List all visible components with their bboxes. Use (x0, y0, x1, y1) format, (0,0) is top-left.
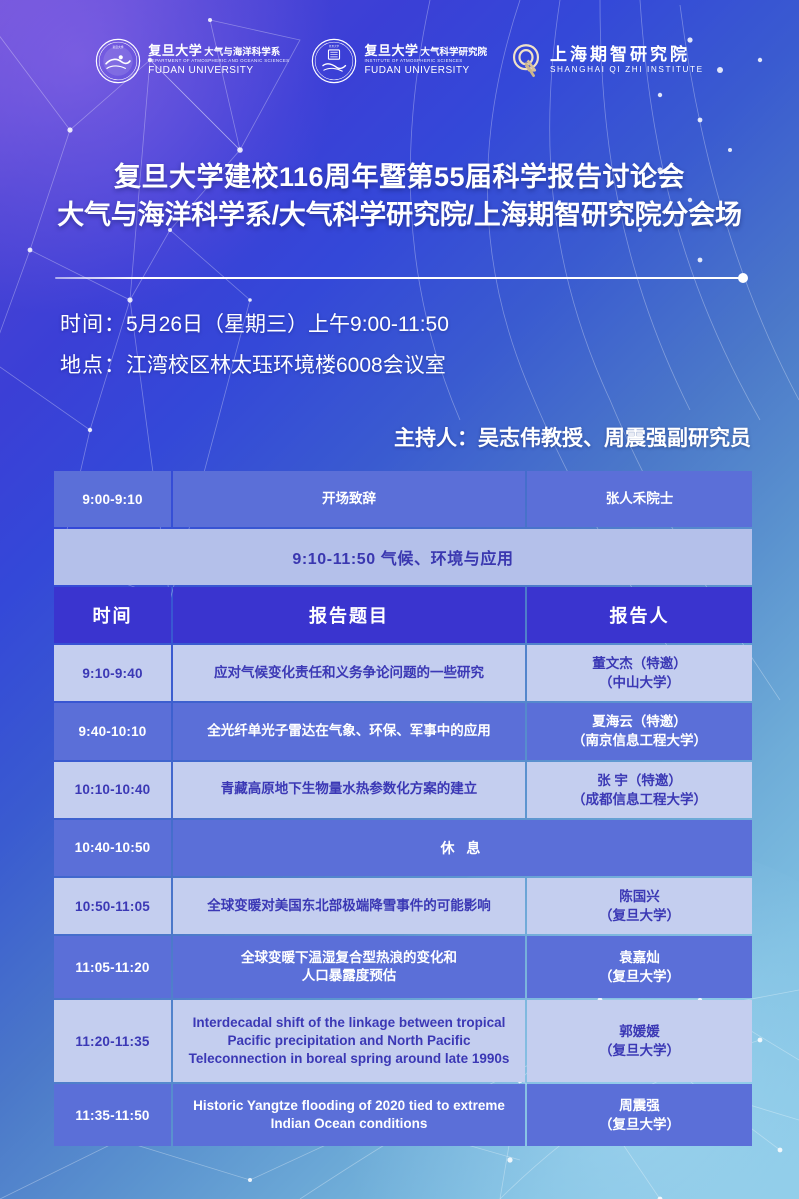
row-title: 全球变暖对美国东北部极端降雪事件的可能影响 (173, 878, 525, 934)
qizhi-monogram-icon (509, 42, 543, 80)
row-speaker-name: 郭媛媛 (533, 1022, 746, 1041)
row-speaker-name: 袁嘉灿 (533, 948, 746, 967)
opening-time: 9:00-9:10 (54, 471, 171, 527)
schedule-table: 9:00-9:10 开场致辞 张人禾院士 9:10-11:50 气候、环境与应用… (52, 469, 754, 1148)
row-speaker-name: 周震强 (533, 1096, 746, 1115)
event-place-label: 地点： (60, 354, 126, 377)
row-speaker: 陈国兴 （复旦大学） (527, 878, 752, 934)
row-speaker-name: 陈国兴 (533, 887, 746, 906)
column-header-title: 报告题目 (173, 587, 525, 643)
title-divider (0, 272, 799, 284)
fudan-ias-seal-text: 复旦大学 (364, 45, 418, 58)
table-row: 11:35-11:50 Historic Yangtze flooding of… (54, 1084, 752, 1146)
title-line-2: 大气与海洋科学系/大气科学研究院/上海期智研究院分会场 (0, 196, 799, 234)
table-row-section-header: 9:10-11:50 气候、环境与应用 (54, 529, 752, 585)
event-place-value: 江湾校区林太珏环境楼6008会议室 (126, 354, 446, 377)
row-speaker: 夏海云（特邀） （南京信息工程大学） (527, 703, 752, 759)
divider-end-dot-icon (738, 273, 748, 283)
page-title: 复旦大学建校116周年暨第55届科学报告讨论会 大气与海洋科学系/大气科学研究院… (0, 158, 799, 235)
row-time: 9:40-10:10 (54, 703, 171, 759)
row-time: 10:50-11:05 (54, 878, 171, 934)
row-speaker-affiliation: （南京信息工程大学） (533, 731, 746, 750)
section-header-label: 9:10-11:50 气候、环境与应用 (54, 529, 752, 585)
opening-title: 开场致辞 (173, 471, 525, 527)
qizhi-name-cn: 上海期智研究院 (550, 46, 704, 65)
row-title: Interdecadal shift of the linkage betwee… (173, 1000, 525, 1082)
break-label: 休 息 (173, 820, 752, 876)
table-row-column-headers: 时间 报告题目 报告人 (54, 587, 752, 643)
poster-canvas: 复旦大学 复旦大学 大气与海洋科学系 DEPARTMENT OF ATMOSPH… (0, 0, 799, 1199)
row-speaker-affiliation: （中山大学） (533, 673, 746, 692)
fudan-ams-university-en: FUDAN UNIVERSITY (148, 65, 289, 78)
row-speaker: 袁嘉灿 （复旦大学） (527, 936, 752, 998)
table-row: 9:40-10:10 全光纤单光子雷达在气象、环保、军事中的应用 夏海云（特邀）… (54, 703, 752, 759)
table-row: 11:20-11:35 Interdecadal shift of the li… (54, 1000, 752, 1082)
event-time-value: 5月26日（星期三）上午9:00-11:50 (126, 313, 449, 336)
fudan-ams-seal-text: 复旦大学 (148, 45, 202, 58)
shanghai-qizhi-logo: 上海期智研究院 SHANGHAI QI ZHI INSTITUTE (509, 42, 704, 80)
fudan-ams-dept-en: DEPARTMENT OF ATMOSPHERIC AND OCEANIC SC… (148, 58, 289, 65)
row-speaker-affiliation: （成都信息工程大学） (533, 790, 746, 809)
row-speaker-affiliation: （复旦大学） (533, 906, 746, 925)
table-row: 10:10-10:40 青藏高原地下生物量水热参数化方案的建立 张 宇（特邀） … (54, 762, 752, 818)
row-time: 11:05-11:20 (54, 936, 171, 998)
opening-speaker: 张人禾院士 (527, 471, 752, 527)
row-time: 11:35-11:50 (54, 1084, 171, 1146)
title-line-1: 复旦大学建校116周年暨第55届科学报告讨论会 (0, 158, 799, 196)
qizhi-name-en: SHANGHAI QI ZHI INSTITUTE (550, 65, 704, 76)
column-header-speaker: 报告人 (527, 587, 752, 643)
event-place-row: 地点：江湾校区林太珏环境楼6008会议室 (60, 346, 449, 387)
fudan-ias-university-en: FUDAN UNIVERSITY (364, 65, 487, 78)
fudan-ias-dept-cn: 大气科学研究院 (420, 48, 487, 58)
table-row: 10:50-11:05 全球变暖对美国东北部极端降雪事件的可能影响 陈国兴 （复… (54, 878, 752, 934)
table-row-break: 10:40-10:50 休 息 (54, 820, 752, 876)
fudan-seal-icon: 复旦大学 (95, 38, 141, 84)
fudan-ams-dept-cn: 大气与海洋科学系 (204, 48, 280, 58)
row-speaker: 郭媛媛 （复旦大学） (527, 1000, 752, 1082)
row-speaker-name: 董文杰（特邀） (533, 654, 746, 673)
row-time: 10:10-10:40 (54, 762, 171, 818)
svg-text:复旦大学: 复旦大学 (329, 44, 340, 48)
divider-line (55, 277, 743, 279)
row-speaker: 董文杰（特邀） （中山大学） (527, 645, 752, 701)
row-time: 9:10-9:40 (54, 645, 171, 701)
fudan-ias-dept-en: INSTITUTE OF ATMOSPHERIC SCIENCES (364, 58, 487, 65)
row-title: Historic Yangtze flooding of 2020 tied t… (173, 1084, 525, 1146)
event-meta: 时间：5月26日（星期三）上午9:00-11:50 地点：江湾校区林太珏环境楼6… (60, 305, 449, 387)
row-speaker: 张 宇（特邀） （成都信息工程大学） (527, 762, 752, 818)
row-speaker-name: 张 宇（特邀） (533, 771, 746, 790)
fudan-ias-logo: 复旦大学 复旦大学 大气科学研究院 INSTITUTE OF ATMOSPHER… (311, 38, 487, 84)
event-time-label: 时间： (60, 313, 126, 336)
row-speaker: 周震强 （复旦大学） (527, 1084, 752, 1146)
row-title: 应对气候变化责任和义务争论问题的一些研究 (173, 645, 525, 701)
svg-text:复旦大学: 复旦大学 (113, 45, 124, 49)
column-header-time: 时间 (54, 587, 171, 643)
event-host: 主持人：吴志伟教授、周震强副研究员 (394, 422, 751, 452)
fudan-ias-seal-icon: 复旦大学 (311, 38, 357, 84)
fudan-ams-logo: 复旦大学 复旦大学 大气与海洋科学系 DEPARTMENT OF ATMOSPH… (95, 38, 289, 84)
row-speaker-affiliation: （复旦大学） (533, 967, 746, 986)
event-time-row: 时间：5月26日（星期三）上午9:00-11:50 (60, 305, 449, 346)
row-title: 青藏高原地下生物量水热参数化方案的建立 (173, 762, 525, 818)
row-speaker-affiliation: （复旦大学） (533, 1041, 746, 1060)
table-row: 11:05-11:20 全球变暖下温湿复合型热浪的变化和 人口暴露度预估 袁嘉灿… (54, 936, 752, 998)
break-time: 10:40-10:50 (54, 820, 171, 876)
logo-bar: 复旦大学 复旦大学 大气与海洋科学系 DEPARTMENT OF ATMOSPH… (0, 38, 799, 84)
table-row-opening: 9:00-9:10 开场致辞 张人禾院士 (54, 471, 752, 527)
row-title: 全球变暖下温湿复合型热浪的变化和 人口暴露度预估 (173, 936, 525, 998)
row-time: 11:20-11:35 (54, 1000, 171, 1082)
row-speaker-name: 夏海云（特邀） (533, 712, 746, 731)
row-speaker-affiliation: （复旦大学） (533, 1115, 746, 1134)
row-title: 全光纤单光子雷达在气象、环保、军事中的应用 (173, 703, 525, 759)
table-row: 9:10-9:40 应对气候变化责任和义务争论问题的一些研究 董文杰（特邀） （… (54, 645, 752, 701)
